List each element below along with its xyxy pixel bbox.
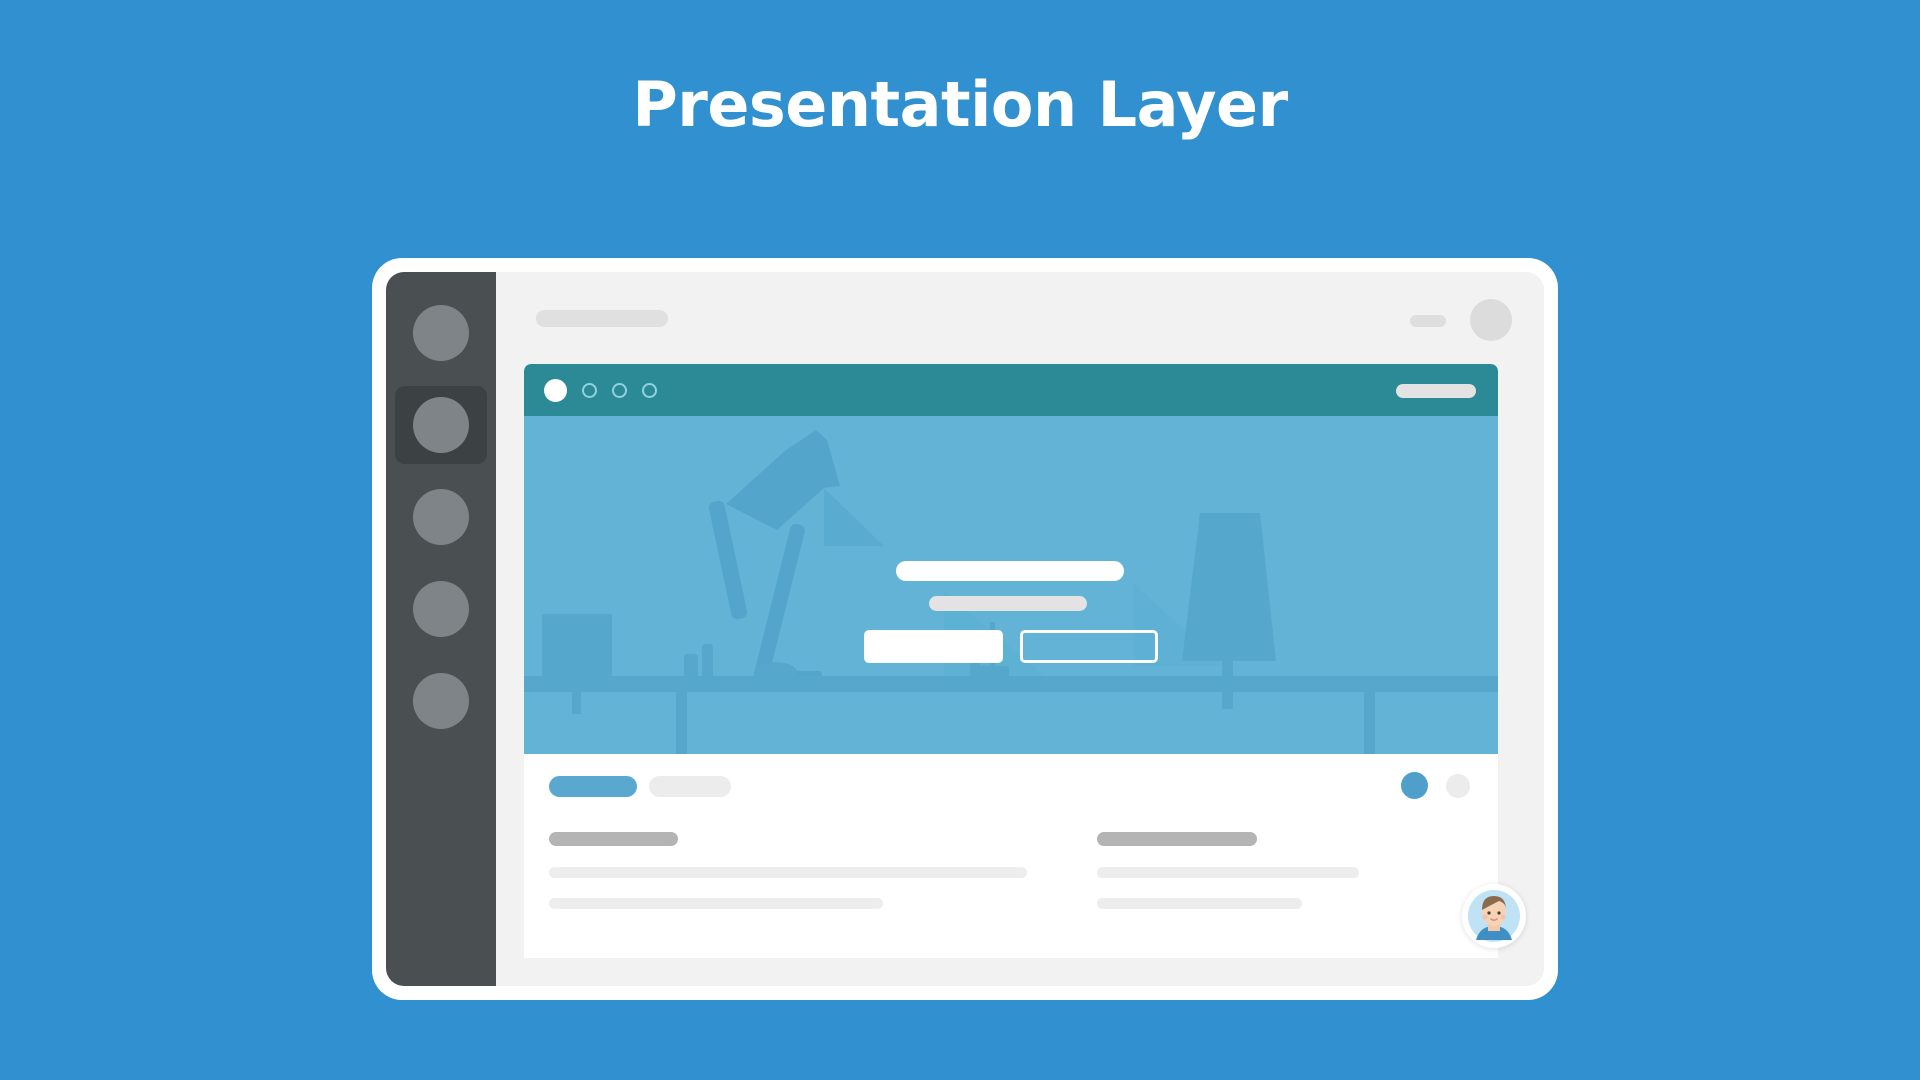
text-title-placeholder xyxy=(1097,832,1257,846)
nav-circle-icon xyxy=(413,673,469,729)
app-header xyxy=(496,272,1544,364)
nav-circle-icon xyxy=(413,305,469,361)
support-agent-avatar-icon[interactable] xyxy=(1462,884,1526,948)
sidebar-item-2[interactable] xyxy=(395,386,487,464)
text-title-placeholder xyxy=(549,832,678,846)
text-line-placeholder xyxy=(1097,867,1359,878)
tablet-device-frame xyxy=(372,258,1558,1000)
hero-headline-placeholder xyxy=(896,561,1124,581)
nav-circle-icon xyxy=(413,397,469,453)
avatar-illustration xyxy=(1462,884,1526,948)
page-dot-1[interactable] xyxy=(1401,772,1428,799)
device-screen xyxy=(386,272,1544,986)
nav-circle-icon xyxy=(413,581,469,637)
logo-placeholder-pill[interactable] xyxy=(536,310,668,327)
browser-dot-filled-icon[interactable] xyxy=(544,379,567,402)
nav-circle-icon xyxy=(413,489,469,545)
content-section xyxy=(524,754,1498,958)
text-line-placeholder xyxy=(549,898,883,909)
user-avatar-icon[interactable] xyxy=(1470,299,1512,341)
hero-subheadline-placeholder xyxy=(929,596,1087,611)
page-root: Presentation Layer xyxy=(0,0,1920,1080)
browser-dot-hollow-icon[interactable] xyxy=(642,383,657,398)
tab-two[interactable] xyxy=(649,776,731,797)
browser-toolbar xyxy=(524,364,1498,416)
app-main-pane xyxy=(496,272,1544,986)
hero-secondary-cta-button[interactable] xyxy=(1020,630,1158,663)
page-title: Presentation Layer xyxy=(0,68,1920,141)
hero-section xyxy=(524,416,1498,754)
browser-dot-hollow-icon[interactable] xyxy=(582,383,597,398)
text-line-placeholder xyxy=(549,867,1027,878)
sidebar-item-3[interactable] xyxy=(395,478,487,556)
app-sidebar xyxy=(386,272,496,986)
hero-primary-cta-button[interactable] xyxy=(864,630,1003,663)
sidebar-item-1[interactable] xyxy=(395,294,487,372)
tab-one[interactable] xyxy=(549,776,637,797)
sidebar-item-4[interactable] xyxy=(395,570,487,648)
browser-dot-hollow-icon[interactable] xyxy=(612,383,627,398)
text-line-placeholder xyxy=(1097,898,1302,909)
page-dot-2[interactable] xyxy=(1446,774,1470,798)
hero-content xyxy=(524,416,1498,754)
right-column xyxy=(1097,832,1397,929)
url-bar-placeholder[interactable] xyxy=(1396,384,1476,398)
browser-window-card xyxy=(524,364,1498,958)
sidebar-item-5[interactable] xyxy=(395,662,487,740)
left-column xyxy=(549,832,1027,929)
minimize-pill-icon[interactable] xyxy=(1410,315,1446,327)
